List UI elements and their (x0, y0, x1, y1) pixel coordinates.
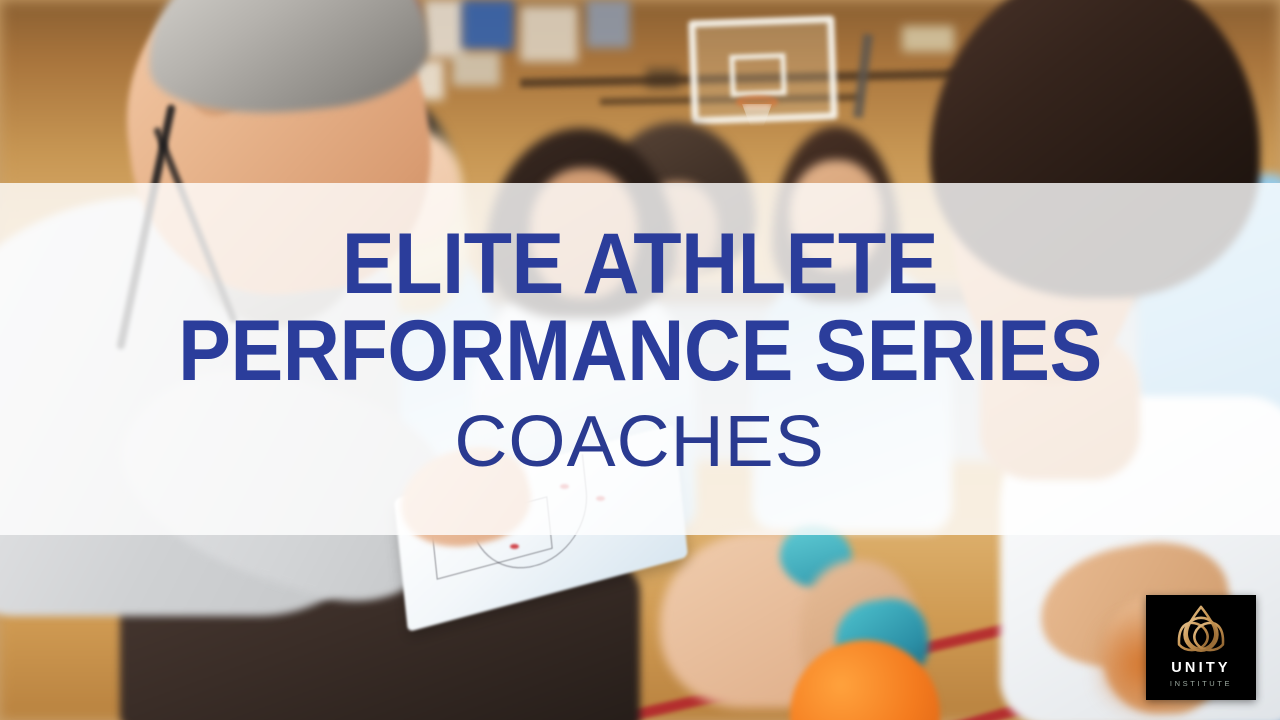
subtitle: COACHES (455, 406, 825, 478)
logo-tagline: INSTITUTE (1170, 680, 1232, 688)
triquetra-icon (1170, 602, 1232, 658)
wall-poster (424, 0, 464, 58)
logo-name: UNITY (1171, 661, 1231, 676)
backboard-inner-square (729, 53, 786, 97)
wall-poster (452, 52, 500, 86)
promotional-banner-image: ELITE ATHLETE PERFORMANCE SERIES COACHES (0, 0, 1280, 720)
wall-poster (902, 26, 954, 52)
unity-institute-logo: UNITY INSTITUTE (1146, 595, 1256, 700)
title-line-two: PERFORMANCE SERIES (178, 310, 1102, 393)
clipboard-marker-dot (510, 544, 519, 549)
wall-poster (520, 6, 578, 62)
headline-text-block: ELITE ATHLETE PERFORMANCE SERIES COACHES (0, 183, 1280, 535)
title-line-one: ELITE ATHLETE (342, 223, 938, 306)
wall-poster (586, 0, 630, 48)
wall-poster (462, 0, 514, 50)
